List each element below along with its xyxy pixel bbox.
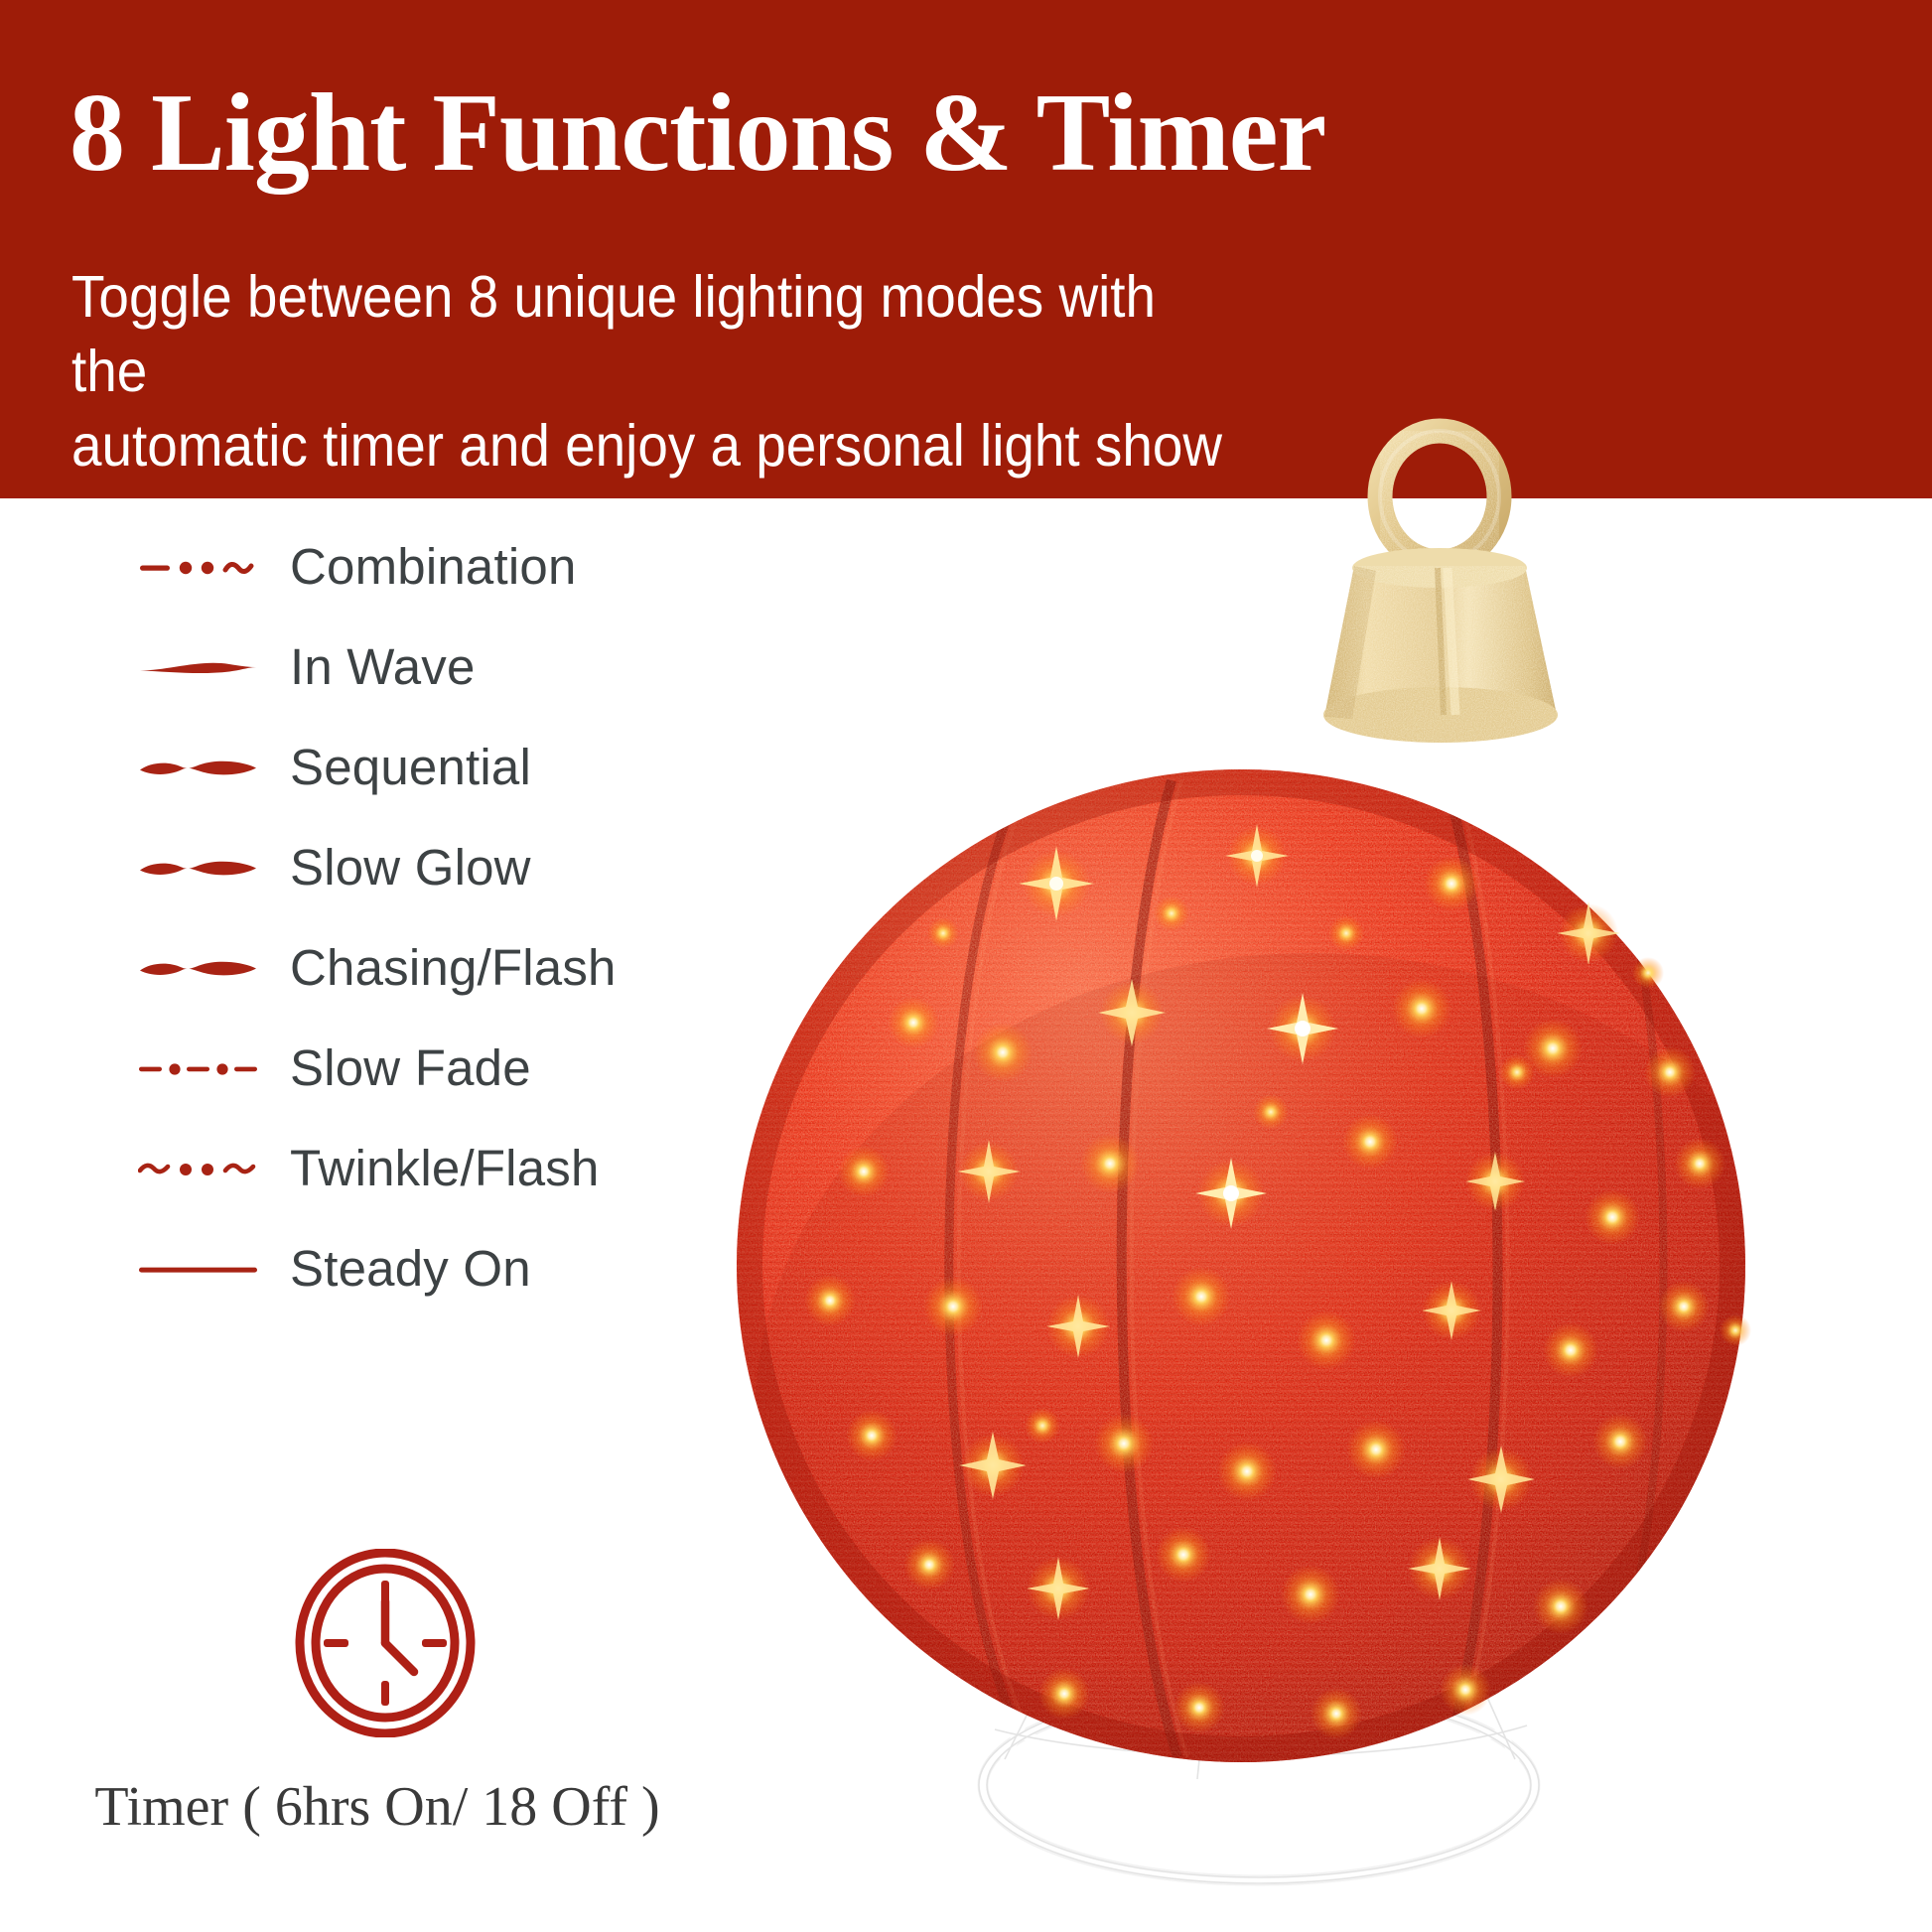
double-lens-icon [129, 938, 268, 998]
mode-label: Twinkle/Flash [290, 1139, 600, 1197]
double-lens-icon [129, 738, 268, 797]
subtitle-line-1: Toggle between 8 unique lighting modes w… [71, 260, 1235, 409]
dash-dot-dash-dot-dash-icon [129, 1038, 268, 1098]
page-title: 8 Light Functions & Timer [69, 77, 1325, 189]
wave-dot-dot-wave-icon [129, 1139, 268, 1198]
mode-label: Combination [290, 537, 577, 596]
mode-label: Chasing/Flash [290, 938, 617, 997]
gold-hanger-ring [1380, 431, 1499, 562]
double-lens-icon [129, 838, 268, 897]
solid-line-icon [129, 1239, 268, 1299]
product-image-ornament [616, 417, 1932, 1932]
dash-dot-dot-wave-icon [129, 537, 268, 597]
mode-label: Slow Fade [290, 1038, 531, 1097]
infographic-page: 8 Light Functions & Timer Toggle between… [0, 0, 1932, 1932]
mode-label: Sequential [290, 738, 531, 796]
single-taper-lens-icon [129, 637, 268, 697]
mode-label: Steady On [290, 1239, 531, 1298]
mode-label: Slow Glow [290, 838, 531, 897]
mode-label: In Wave [290, 637, 476, 696]
gold-cap [1323, 548, 1558, 743]
clock-icon [291, 1549, 480, 1737]
